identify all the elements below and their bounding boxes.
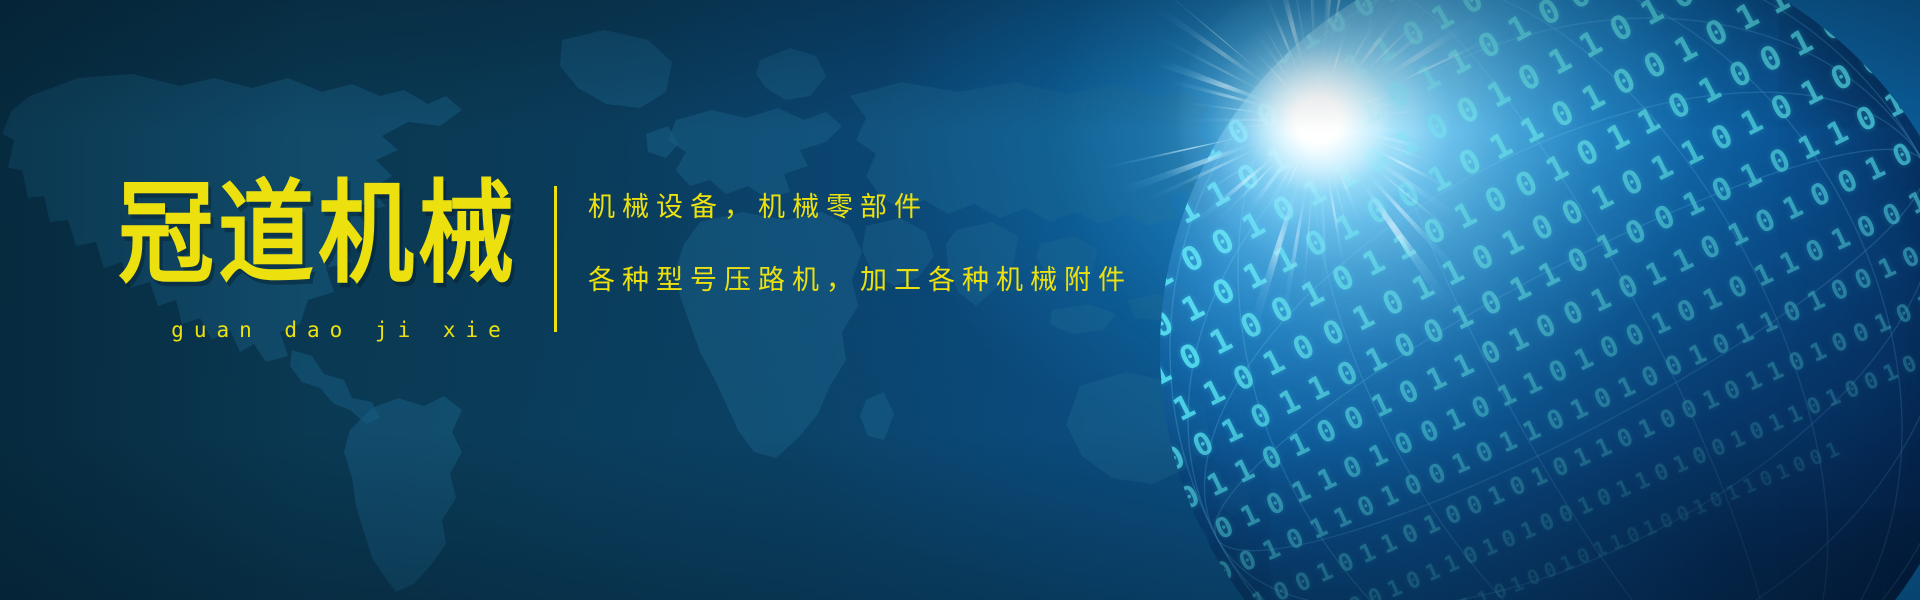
tagline-line-1: 机械设备，机械零部件	[588, 194, 1132, 221]
vertical-divider	[554, 186, 557, 332]
brand-name-pinyin: guan dao ji xie	[118, 318, 548, 342]
tagline-line-2: 各种型号压路机，加工各种机械附件	[588, 267, 1132, 294]
banner-content: 冠道机械 guan dao ji xie 机械设备，机械零部件 各种型号压路机，…	[0, 0, 1250, 600]
brand-block: 冠道机械 guan dao ji xie	[118, 178, 548, 342]
banner-root: 1001011010010110100101101010010110100101…	[0, 0, 1920, 600]
tagline-block: 机械设备，机械零部件 各种型号压路机，加工各种机械附件	[588, 194, 1132, 294]
brand-name-chinese: 冠道机械	[118, 178, 548, 289]
